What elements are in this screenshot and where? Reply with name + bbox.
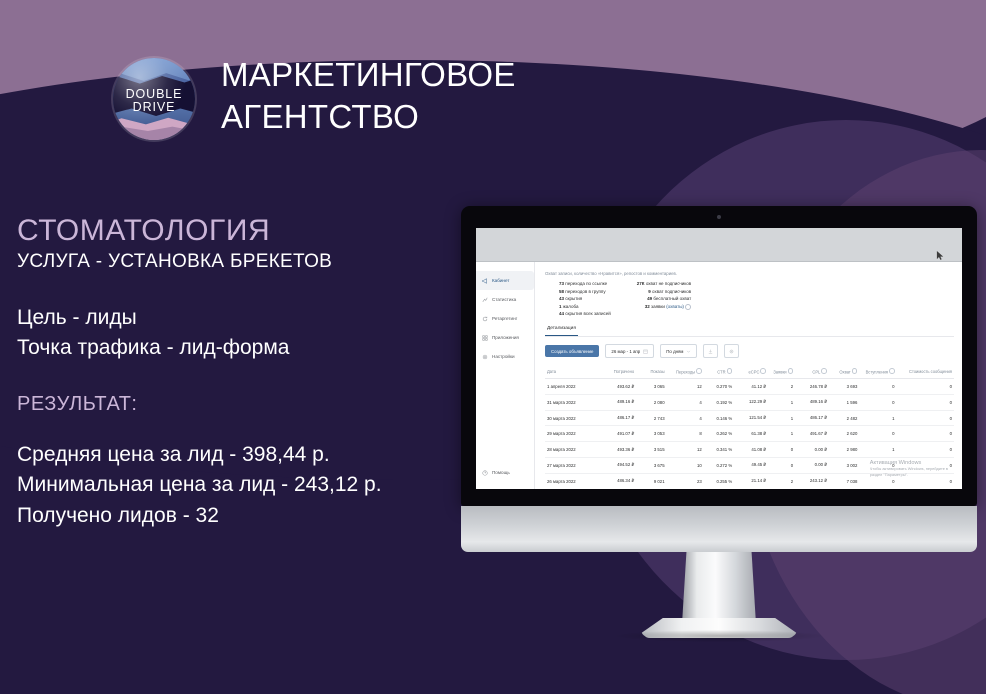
cell: 0.00 ₽ — [795, 442, 829, 458]
col-impressions[interactable]: Показы — [636, 365, 666, 379]
cell: 49.45 ₽ — [734, 458, 768, 474]
min-cost-line: Минимальная цена за лид - 243,12 р. — [17, 470, 487, 500]
cell: 7 038 — [829, 473, 859, 489]
traffic-point-line: Точка трафика - лид-форма — [17, 333, 487, 363]
table-body: 1 апреля 2022 493.62 ₽ 3 065 12 0.270 % … — [545, 379, 954, 489]
stat-value: 9 — [648, 289, 651, 294]
stats-summary: 73 перехода по ссылке 58 переходов в гру… — [545, 281, 954, 316]
table-row[interactable]: 26 марта 2022 486.34 ₽ 9 021 23 0.255 % … — [545, 473, 954, 489]
chart-icon — [482, 297, 488, 303]
col-leads[interactable]: Заявки — [768, 365, 795, 379]
table-row[interactable]: 30 марта 2022 486.17 ₽ 2 743 4 0.146 % 1… — [545, 410, 954, 426]
stat-item: 49 бесплатный охват — [637, 296, 691, 301]
cell: 0.255 % — [704, 473, 734, 489]
sidebar-label: Настройки — [492, 354, 515, 359]
cell: 2 980 — [829, 442, 859, 458]
cell: 3 693 — [829, 379, 859, 395]
sidebar-item-help[interactable]: Помощь — [476, 463, 534, 482]
toolbar: Создать объявление 26 мар - 1 апр По дня… — [545, 344, 954, 357]
stat-label: бесплатный охват — [653, 296, 691, 301]
stat-item: 9 охват подписчиков — [637, 289, 691, 294]
headline: МАРКЕТИНГОВОЕ АГЕНТСТВО — [221, 54, 641, 138]
cell: 3 065 — [636, 379, 666, 395]
col-joins[interactable]: Вступления — [859, 365, 896, 379]
stat-label: охват подписчиков — [652, 289, 691, 294]
avg-cost-line: Средняя цена за лид - 398,44 р. — [17, 440, 487, 470]
stat-item: 43 скрытия — [559, 296, 611, 301]
cell: 0 — [859, 379, 896, 395]
sidebar-item-statistika[interactable]: Статистика — [476, 290, 534, 309]
col-ctr[interactable]: CTR — [704, 365, 734, 379]
cell: 1 596 — [829, 394, 859, 410]
sidebar-bottom: Помощь Свернуть — [476, 463, 534, 489]
result-values: Средняя цена за лид - 398,44 р. Минималь… — [17, 440, 487, 531]
cell: 489.16 ₽ — [599, 394, 636, 410]
cell: 12 — [667, 379, 704, 395]
stats-right-column: 27К охват не подписчиков 9 охват подписч… — [637, 281, 691, 316]
cell: 0 — [859, 473, 896, 489]
cell: 28 марта 2022 — [545, 442, 599, 458]
cell: 486.17 ₽ — [795, 410, 829, 426]
logo-line-2: DRIVE — [113, 101, 195, 114]
chevron-down-icon — [686, 349, 691, 354]
grouping-select[interactable]: По дням — [660, 344, 697, 357]
stat-value: 43 — [559, 296, 564, 301]
cell: 10 — [667, 458, 704, 474]
grouping-label: По дням — [666, 349, 683, 354]
col-clicks[interactable]: Переходы — [667, 365, 704, 379]
cell: 0.00 ₽ — [795, 458, 829, 474]
download-icon — [708, 349, 713, 354]
monitor-neck — [682, 552, 756, 624]
cell: 9 021 — [636, 473, 666, 489]
table-row[interactable]: 27 марта 2022 494.52 ₽ 3 675 10 0.272 % … — [545, 458, 954, 474]
cell: 26 марта 2022 — [545, 473, 599, 489]
browser-chrome — [476, 228, 962, 262]
monitor: Кабинет Статистика Ретаргетинг — [461, 206, 977, 506]
cell: 41.12 ₽ — [734, 379, 768, 395]
sidebar-label: Статистика — [492, 297, 516, 302]
stat-item: 58 переходов в группу — [559, 289, 611, 294]
cell: 489.16 ₽ — [795, 394, 829, 410]
cell: 0.341 % — [704, 442, 734, 458]
date-range-label: 26 мар - 1 апр — [611, 349, 640, 354]
headline-line-2: АГЕНТСТВО — [221, 96, 641, 138]
cell: 4 — [667, 394, 704, 410]
export-button[interactable] — [703, 344, 718, 357]
cell: 0 — [768, 442, 795, 458]
stat-value: 44 — [559, 311, 564, 316]
sidebar-label: Приложения — [492, 335, 519, 340]
slide-canvas: DOUBLE DRIVE МАРКЕТИНГОВОЕ АГЕНТСТВО СТО… — [0, 0, 986, 694]
webcam-icon — [717, 215, 721, 219]
retarget-icon — [482, 316, 488, 322]
cell: 486.34 ₽ — [599, 473, 636, 489]
monitor-shadow — [615, 630, 823, 642]
cell: 4 — [667, 410, 704, 426]
cell: 2 — [768, 473, 795, 489]
monitor-screen: Кабинет Статистика Ретаргетинг — [476, 228, 962, 489]
cell: 246.78 ₽ — [795, 379, 829, 395]
table-row[interactable]: 29 марта 2022 491.07 ₽ 3 053 8 0.262 % 6… — [545, 426, 954, 442]
help-icon — [482, 470, 488, 476]
settings-button[interactable] — [724, 344, 739, 357]
cell: 1 — [859, 442, 896, 458]
service-subtitle: УСЛУГА - УСТАНОВКА БРЕКЕТОВ — [17, 251, 487, 273]
cell: 486.17 ₽ — [599, 410, 636, 426]
headline-line-1: МАРКЕТИНГОВОЕ — [221, 54, 641, 96]
stat-value: 32 — [645, 304, 650, 309]
cell: 1 — [859, 410, 896, 426]
table-header-row: Дата Потрачено Показы Переходы CTR eCPC … — [545, 365, 954, 379]
cell: 31 марта 2022 — [545, 394, 599, 410]
stat-label: скрытия — [565, 296, 582, 301]
cell: 493.62 ₽ — [599, 379, 636, 395]
sidebar: Кабинет Статистика Ретаргетинг — [476, 262, 535, 489]
stat-label: заявки — [651, 304, 665, 309]
cell: 0 — [897, 458, 954, 474]
cell: 0 — [859, 426, 896, 442]
logo-text: DOUBLE DRIVE — [113, 88, 195, 114]
cell: 0 — [897, 426, 954, 442]
cell: 0 — [897, 379, 954, 395]
col-date[interactable]: Дата — [545, 365, 599, 379]
col-ecpc[interactable]: eCPC — [734, 365, 768, 379]
cell: 2 620 — [829, 426, 859, 442]
date-range-picker[interactable]: 26 мар - 1 апр — [605, 344, 654, 357]
content-area: Охват записи, количество «Нравится», реп… — [535, 262, 962, 489]
sidebar-label: Кабинет — [492, 278, 509, 283]
cell: 29 марта 2022 — [545, 426, 599, 442]
cell: 1 — [768, 410, 795, 426]
cell: 122.29 ₽ — [734, 394, 768, 410]
stats-left-column: 73 перехода по ссылке 58 переходов в гру… — [559, 281, 611, 316]
stat-link[interactable]: (охваты) — [666, 304, 684, 309]
stat-label: переходов в группу — [565, 289, 605, 294]
cell: 0 — [897, 442, 954, 458]
result-label: РЕЗУЛЬТАТ: — [17, 393, 487, 416]
cell: 2 — [768, 379, 795, 395]
goal-block: Цель - лиды Точка трафика - лид-форма — [17, 303, 487, 363]
table-row[interactable]: 31 марта 2022 489.16 ₽ 2 080 4 0.192 % 1… — [545, 394, 954, 410]
cell: 3 515 — [636, 442, 666, 458]
cell: 494.52 ₽ — [599, 458, 636, 474]
cell: 30 марта 2022 — [545, 410, 599, 426]
sidebar-item-prilozheniya[interactable]: Приложения — [476, 328, 534, 347]
collapse-icon — [482, 489, 488, 490]
logo-line-1: DOUBLE — [113, 88, 195, 101]
info-icon[interactable] — [821, 368, 827, 374]
info-icon[interactable] — [852, 368, 858, 374]
stat-item: 73 перехода по ссылке — [559, 281, 611, 286]
cell: 0.270 % — [704, 379, 734, 395]
stat-item: 1 жалоба — [559, 304, 611, 309]
sidebar-item-retargeting[interactable]: Ретаргетинг — [476, 309, 534, 328]
cell: 2 482 — [829, 410, 859, 426]
stat-item: 44 скрытия всех записей — [559, 311, 611, 316]
cursor-icon — [936, 251, 945, 260]
leads-line: Получено лидов - 32 — [17, 501, 487, 531]
stat-item: 32 заявки (охваты) — [637, 304, 691, 310]
cell: 0.192 % — [704, 394, 734, 410]
stat-label: перехода по ссылке — [565, 281, 607, 286]
stat-value: 1 — [559, 304, 562, 309]
info-icon[interactable] — [760, 368, 766, 374]
cell: 491.07 ₽ — [599, 426, 636, 442]
goal-line: Цель - лиды — [17, 303, 487, 333]
cell: 0 — [897, 410, 954, 426]
cell: 3 002 — [829, 458, 859, 474]
cell: 0 — [859, 394, 896, 410]
cell: 8 — [667, 426, 704, 442]
stat-label: скрытия всех записей — [565, 311, 611, 316]
calendar-icon — [643, 349, 648, 354]
tab-bar: Детализация — [545, 325, 954, 337]
cell: 1 апреля 2022 — [545, 379, 599, 395]
table-row[interactable]: 1 апреля 2022 493.62 ₽ 3 065 12 0.270 % … — [545, 379, 954, 395]
cell: 243.12 ₽ — [795, 473, 829, 489]
cell: 3 675 — [636, 458, 666, 474]
cell: 12 — [667, 442, 704, 458]
cell: 2 743 — [636, 410, 666, 426]
tab-detalizaciya[interactable]: Детализация — [545, 326, 578, 336]
table-head: Дата Потрачено Показы Переходы CTR eCPC … — [545, 365, 954, 379]
stat-label: жалоба — [563, 304, 579, 309]
cell: 1 — [768, 394, 795, 410]
cell: 0 — [859, 458, 896, 474]
cell: 493.36 ₽ — [599, 442, 636, 458]
cell: 0 — [768, 458, 795, 474]
apps-icon — [482, 335, 488, 341]
cell: 1 — [768, 426, 795, 442]
sidebar-label: Помощь — [492, 470, 510, 475]
cell: 2 080 — [636, 394, 666, 410]
col-msg-cost[interactable]: Стоимость сообщения — [897, 365, 954, 379]
info-icon[interactable] — [685, 304, 691, 310]
copy-block: СТОМАТОЛОГИЯ УСЛУГА - УСТАНОВКА БРЕКЕТОВ… — [17, 214, 487, 531]
cell: 61.38 ₽ — [734, 426, 768, 442]
megaphone-icon — [482, 278, 488, 284]
stat-value: 49 — [647, 296, 652, 301]
col-cpl[interactable]: CPL — [795, 365, 829, 379]
cell: 491.67 ₽ — [795, 426, 829, 442]
cell: 0 — [897, 394, 954, 410]
sidebar-label: Ретаргетинг — [492, 316, 517, 321]
info-icon[interactable] — [889, 368, 895, 374]
vk-ads-page: Кабинет Статистика Ретаргетинг — [476, 262, 962, 489]
info-icon[interactable] — [696, 368, 702, 374]
col-spent[interactable]: Потрачено — [599, 365, 636, 379]
stats-caption: Охват записи, количество «Нравится», реп… — [545, 271, 954, 276]
sidebar-item-nastroyki[interactable]: Настройки — [476, 347, 534, 366]
sidebar-item-collapse[interactable]: Свернуть — [476, 482, 534, 489]
stat-value: 27К — [637, 281, 645, 286]
monitor-chin — [461, 506, 977, 552]
cell: 27 марта 2022 — [545, 458, 599, 474]
cell: 121.54 ₽ — [734, 410, 768, 426]
table-row[interactable]: 28 марта 2022 493.36 ₽ 3 515 12 0.341 % … — [545, 442, 954, 458]
cell: 21.14 ₽ — [734, 473, 768, 489]
cell: 0.272 % — [704, 458, 734, 474]
cell: 0.146 % — [704, 410, 734, 426]
double-drive-logo: DOUBLE DRIVE — [113, 58, 195, 140]
sidebar-item-kabinet[interactable]: Кабинет — [476, 271, 534, 290]
stat-item: 27К охват не подписчиков — [637, 281, 691, 286]
cell: 41.08 ₽ — [734, 442, 768, 458]
info-icon[interactable] — [727, 368, 733, 374]
gear-icon — [482, 354, 488, 360]
stat-value: 58 — [559, 289, 564, 294]
info-icon[interactable] — [788, 368, 794, 374]
cell: 0.262 % — [704, 426, 734, 442]
stat-value: 73 — [559, 281, 564, 286]
stat-label: охват не подписчиков — [646, 281, 691, 286]
cell: 0 — [897, 473, 954, 489]
cell: 23 — [667, 473, 704, 489]
cell: 3 053 — [636, 426, 666, 442]
gear-icon — [729, 349, 734, 354]
niche-title: СТОМАТОЛОГИЯ — [17, 214, 487, 247]
col-reach[interactable]: Охват — [829, 365, 859, 379]
stats-table: Дата Потрачено Показы Переходы CTR eCPC … — [545, 365, 954, 489]
create-ad-button[interactable]: Создать объявление — [545, 345, 599, 357]
